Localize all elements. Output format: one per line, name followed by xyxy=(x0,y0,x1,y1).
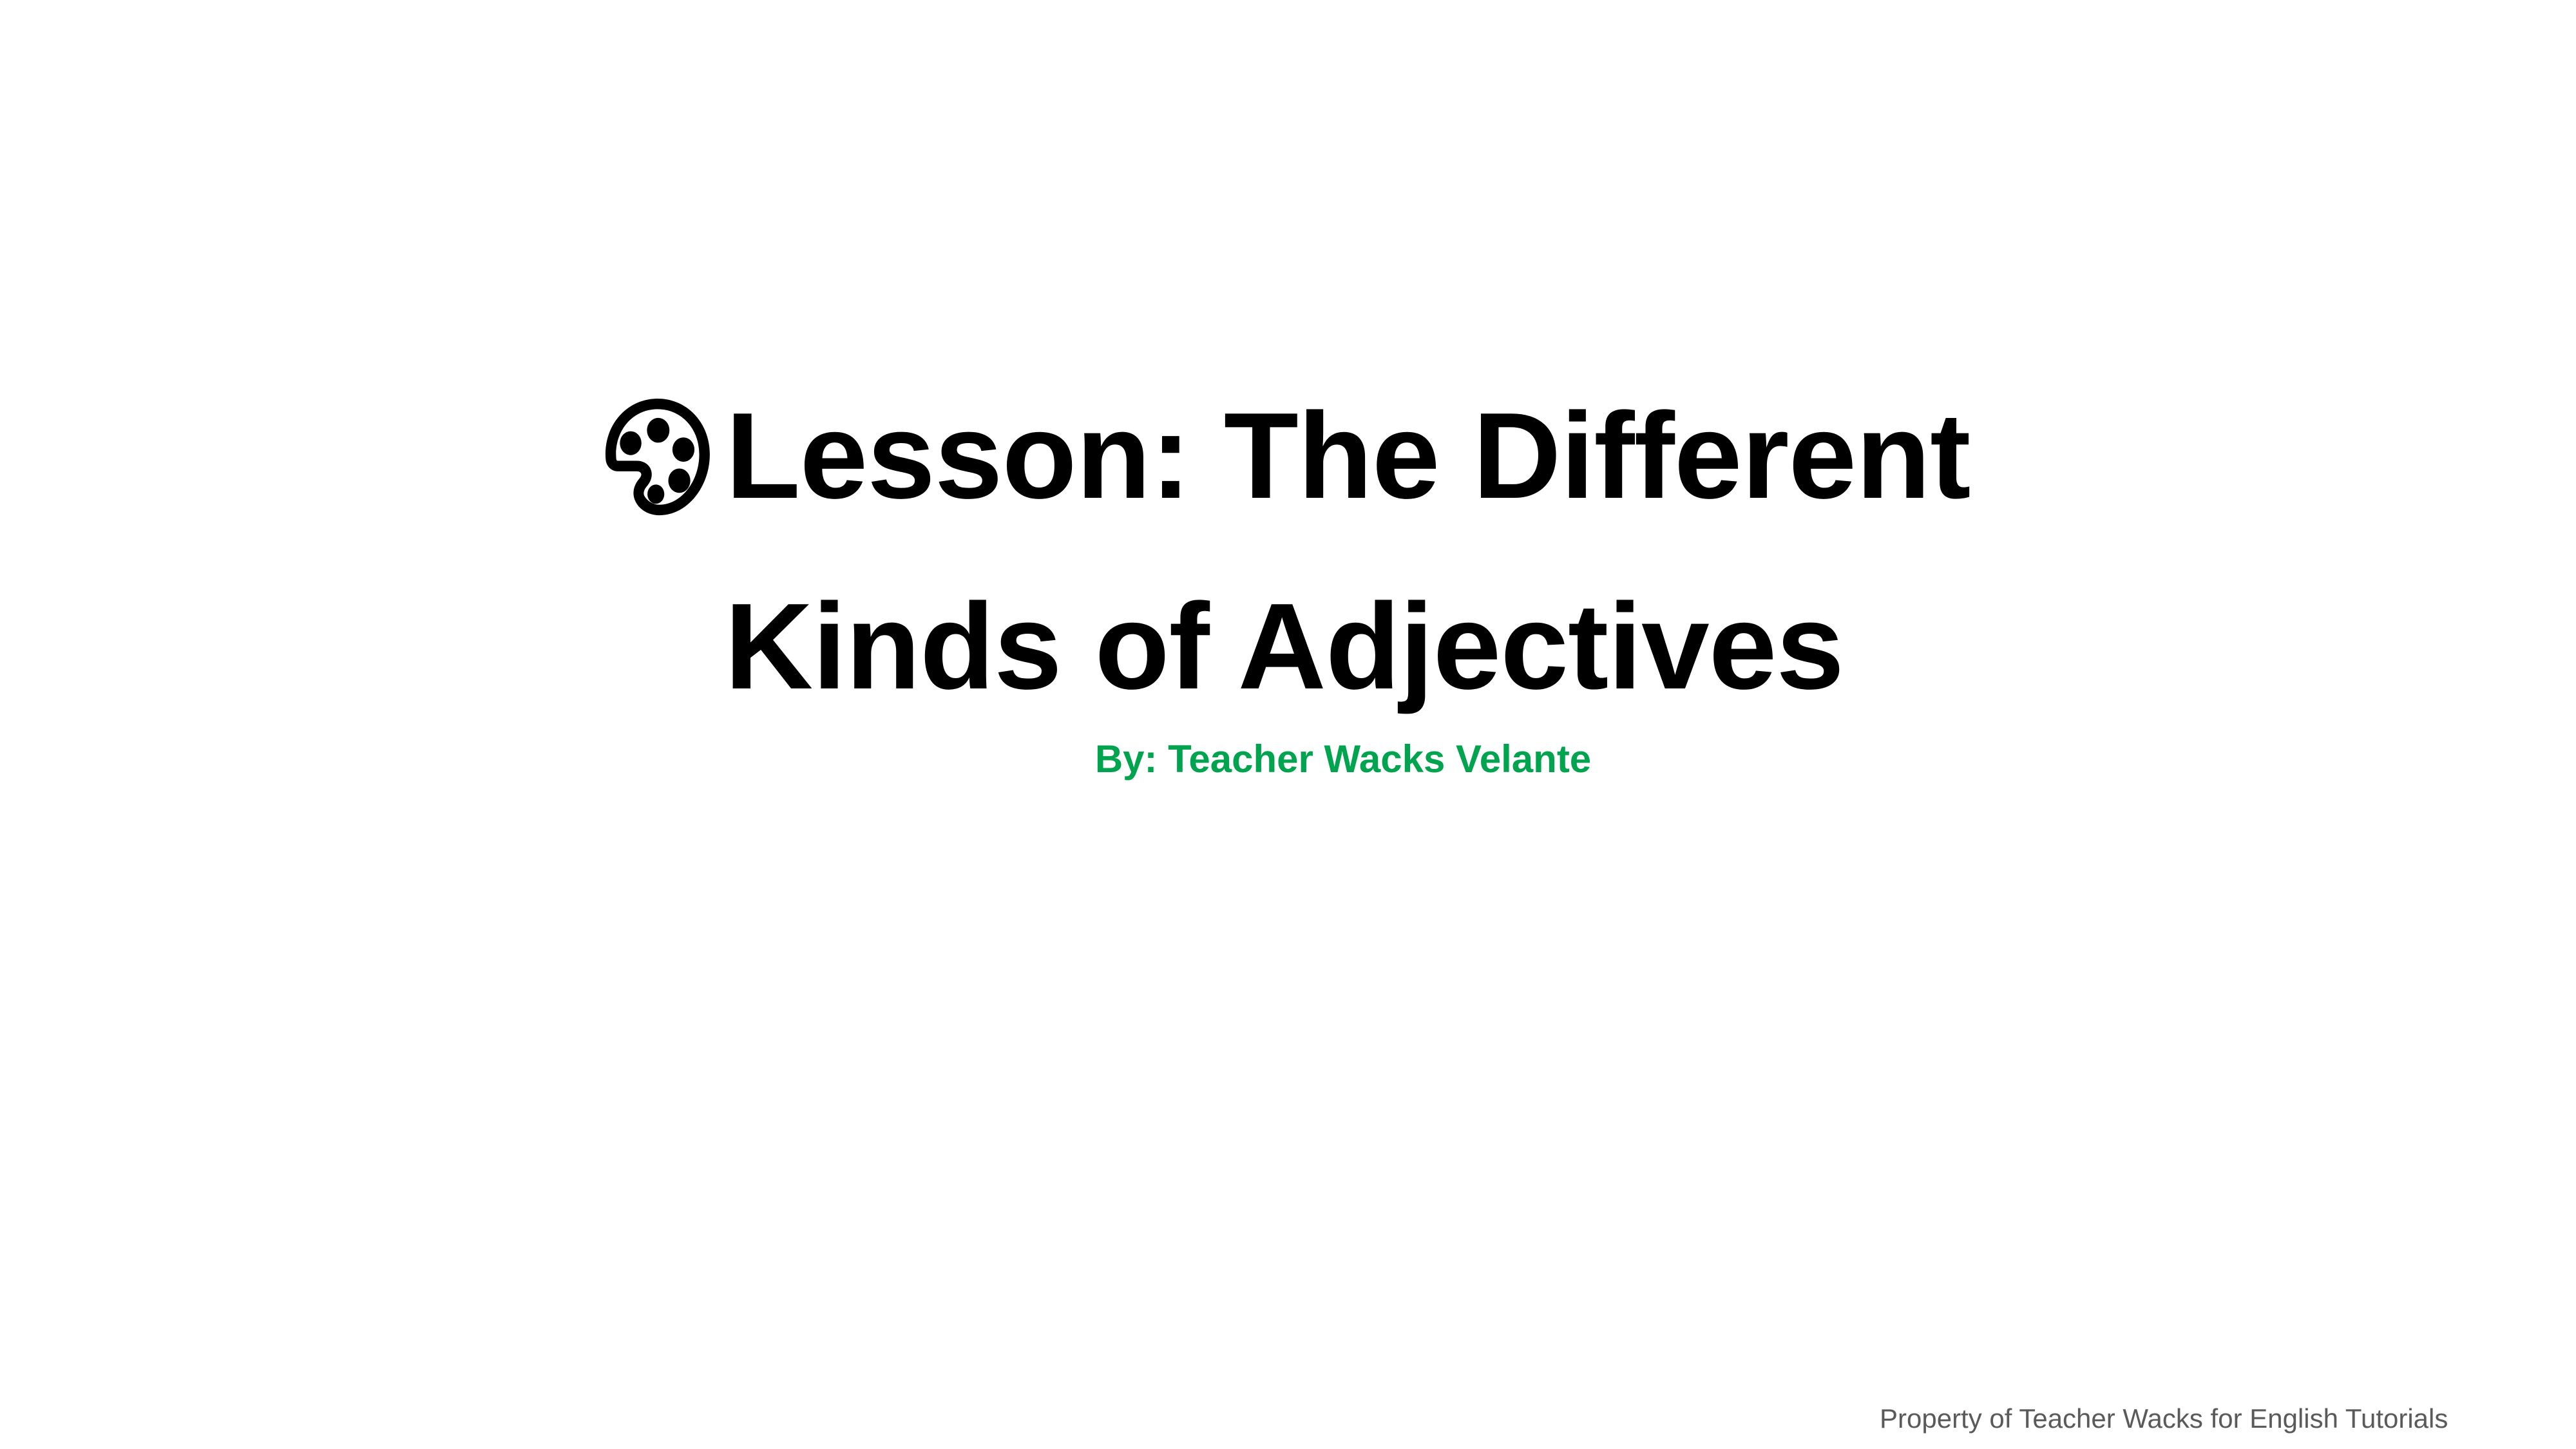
slide-footer-credit: Property of Teacher Wacks for English Tu… xyxy=(1880,1403,2448,1435)
slide-subtitle: By: Teacher Wacks Velante xyxy=(0,736,2576,782)
title-text-group: Lesson: The Different Kinds of Adjective… xyxy=(598,361,1970,742)
palette-icon xyxy=(598,396,716,518)
title-line-1-text: Lesson: The Different xyxy=(726,388,1970,524)
slide-title: Lesson: The Different Kinds of Adjective… xyxy=(0,361,2576,742)
title-line-1: Lesson: The Different xyxy=(598,361,1970,551)
title-line-2: Kinds of Adjectives xyxy=(598,551,1970,742)
presentation-slide: Lesson: The Different Kinds of Adjective… xyxy=(0,0,2576,1449)
